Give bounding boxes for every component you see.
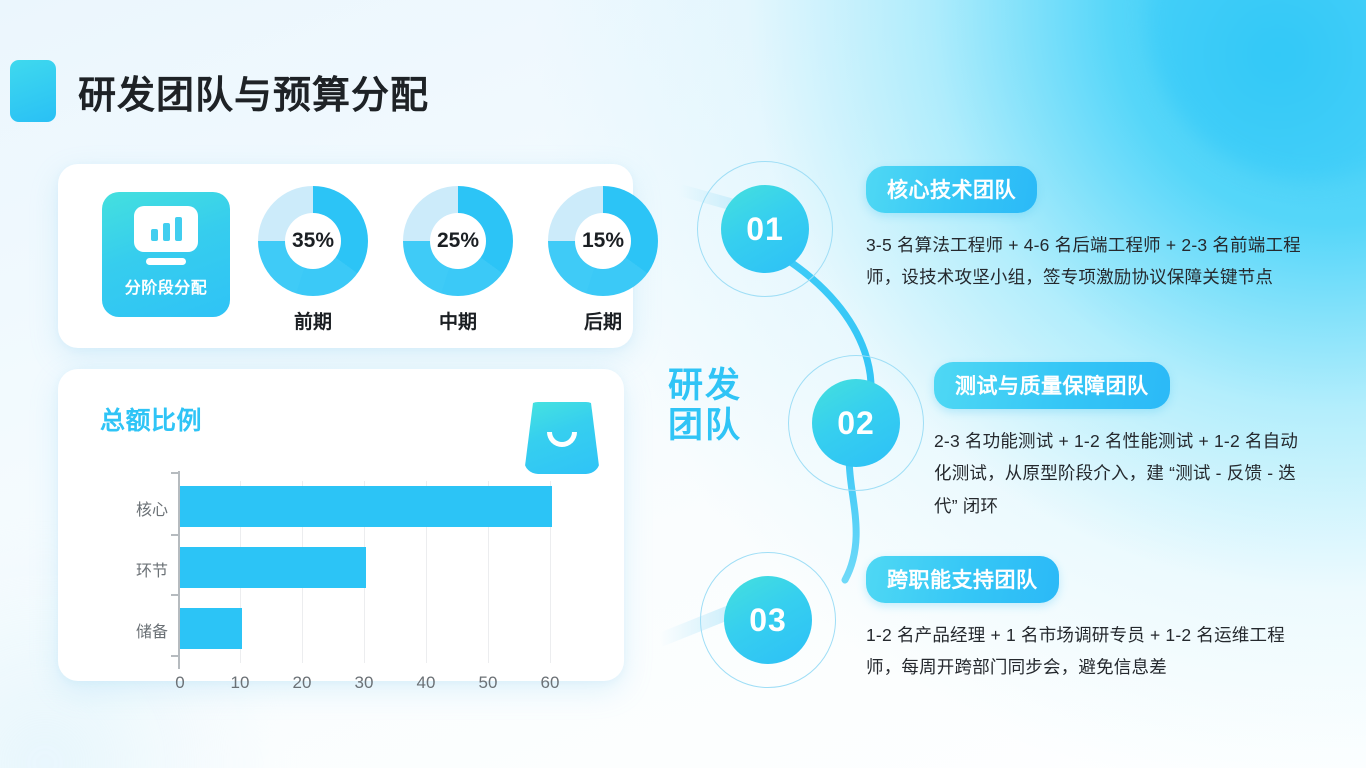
donut-category-label: 前期	[294, 307, 332, 334]
donut-category-label: 中期	[439, 307, 477, 334]
y-axis-tick	[171, 472, 179, 474]
x-axis-tick-label: 10	[231, 673, 250, 693]
donut-chart: 15%	[548, 186, 658, 296]
bar-0	[180, 486, 552, 527]
x-axis-tick-label: 20	[293, 673, 312, 693]
stage-allocation-tile: 分阶段分配	[102, 192, 230, 317]
bar-1	[180, 547, 366, 588]
timeline-item-01: 核心技术团队 3-5 名算法工程师 + 4-6 名后端工程师 + 2-3 名前端…	[866, 166, 1306, 294]
timeline-node-02[interactable]: 02	[788, 355, 924, 491]
donut-item-0: 35% 前期	[253, 186, 373, 334]
slide-canvas: 研发团队与预算分配 分阶段分配 35% 前期	[0, 0, 1366, 768]
donut-chart: 35%	[258, 186, 368, 296]
monitor-bar-chart-icon	[134, 206, 198, 252]
timeline-item-02: 测试与质量保障团队 2-3 名功能测试 + 1-2 名性能测试 + 1-2 名自…	[934, 362, 1306, 522]
stage-allocation-card: 分阶段分配 35% 前期 25% 中期	[58, 164, 633, 348]
donut-chart-group: 35% 前期 25% 中期 15%	[253, 186, 663, 334]
donut-item-1: 25% 中期	[398, 186, 518, 334]
slide-header: 研发团队与预算分配	[10, 60, 429, 122]
donut-percent-label: 15%	[582, 229, 624, 253]
item-description: 1-2 名产品经理 + 1 名市场调研专员 + 1-2 名运维工程师，每周开跨部…	[866, 619, 1306, 684]
donut-center: 15%	[575, 213, 631, 269]
x-axis-tick-label: 0	[175, 673, 184, 693]
timeline-node-01[interactable]: 01	[697, 161, 833, 297]
donut-item-2: 15% 后期	[543, 186, 663, 334]
bar-category-label: 储备	[106, 618, 168, 642]
y-axis-tick	[171, 534, 179, 536]
timeline-node-03[interactable]: 03	[700, 552, 836, 688]
page-title: 研发团队与预算分配	[78, 64, 429, 119]
x-axis-tick-label: 60	[541, 673, 560, 693]
chart-title: 总额比例	[100, 401, 202, 437]
y-axis-tick	[171, 655, 179, 657]
item-description: 2-3 名功能测试 + 1-2 名性能测试 + 1-2 名自动化测试，从原型阶段…	[934, 425, 1306, 522]
decorative-blob-top-right	[1146, 0, 1366, 180]
bag-smile-icon	[547, 432, 577, 447]
node-number: 03	[724, 576, 812, 664]
donut-chart: 25%	[403, 186, 513, 296]
title-accent-bar	[10, 60, 56, 122]
donut-center: 25%	[430, 213, 486, 269]
donut-percent-label: 35%	[292, 229, 334, 253]
timeline-item-03: 跨职能支持团队 1-2 名产品经理 + 1 名市场调研专员 + 1-2 名运维工…	[866, 556, 1306, 684]
x-axis-tick-label: 30	[355, 673, 374, 693]
y-axis-tick	[171, 594, 179, 596]
shopping-bag-icon	[524, 402, 600, 474]
bar-category-label: 核心	[106, 496, 168, 520]
total-ratio-card: 总额比例 核心 环节 储备	[58, 369, 624, 681]
bar-category-label: 环节	[106, 557, 168, 581]
monitor-stand-icon	[146, 258, 186, 265]
node-number: 01	[721, 185, 809, 273]
item-badge[interactable]: 核心技术团队	[866, 166, 1037, 213]
donut-category-label: 后期	[584, 307, 622, 334]
node-number: 02	[812, 379, 900, 467]
x-axis-tick-label: 50	[479, 673, 498, 693]
x-axis-tick-label: 40	[417, 673, 436, 693]
item-badge[interactable]: 跨职能支持团队	[866, 556, 1059, 603]
bar-chart-plot: 核心 环节 储备 0 10 20 30 40 50 60	[178, 481, 554, 663]
donut-center: 35%	[285, 213, 341, 269]
bar-2	[180, 608, 242, 649]
item-description: 3-5 名算法工程师 + 4-6 名后端工程师 + 2-3 名前端工程师，设技术…	[866, 229, 1306, 294]
donut-percent-label: 25%	[437, 229, 479, 253]
stage-tile-label: 分阶段分配	[125, 274, 208, 298]
item-badge[interactable]: 测试与质量保障团队	[934, 362, 1170, 409]
